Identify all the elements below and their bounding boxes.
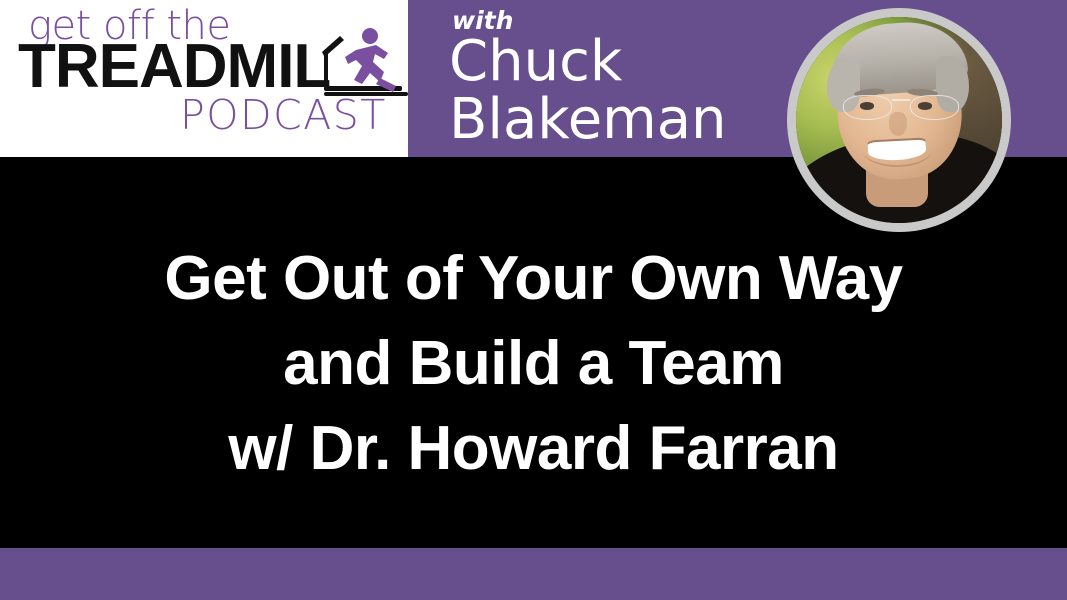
host-first-name: Chuck bbox=[449, 33, 622, 90]
footer-band bbox=[0, 548, 1067, 600]
host-portrait-avatar bbox=[787, 8, 1011, 232]
podcast-episode-artwork: get off the TREADMIL PODCAST with Chuck … bbox=[0, 0, 1067, 600]
episode-title-line-2: and Build a Team bbox=[0, 321, 1067, 406]
episode-title: Get Out of Your Own Way and Build a Team… bbox=[0, 236, 1067, 491]
portrait-lens-right bbox=[910, 95, 958, 120]
logo-line-podcast: PODCAST bbox=[180, 95, 387, 136]
treadmill-runner-icon bbox=[318, 26, 410, 100]
logo-line-treadmill: TREADMIL bbox=[18, 36, 330, 98]
logo-panel: get off the TREADMIL PODCAST bbox=[0, 0, 408, 157]
episode-title-line-1: Get Out of Your Own Way bbox=[0, 236, 1067, 321]
portrait-glasses-bridge bbox=[892, 99, 910, 101]
portrait-lens-left bbox=[843, 95, 891, 120]
episode-title-line-3: w/ Dr. Howard Farran bbox=[0, 406, 1067, 491]
portrait-image bbox=[796, 17, 1002, 223]
host-last-name: Blakeman bbox=[449, 91, 727, 148]
